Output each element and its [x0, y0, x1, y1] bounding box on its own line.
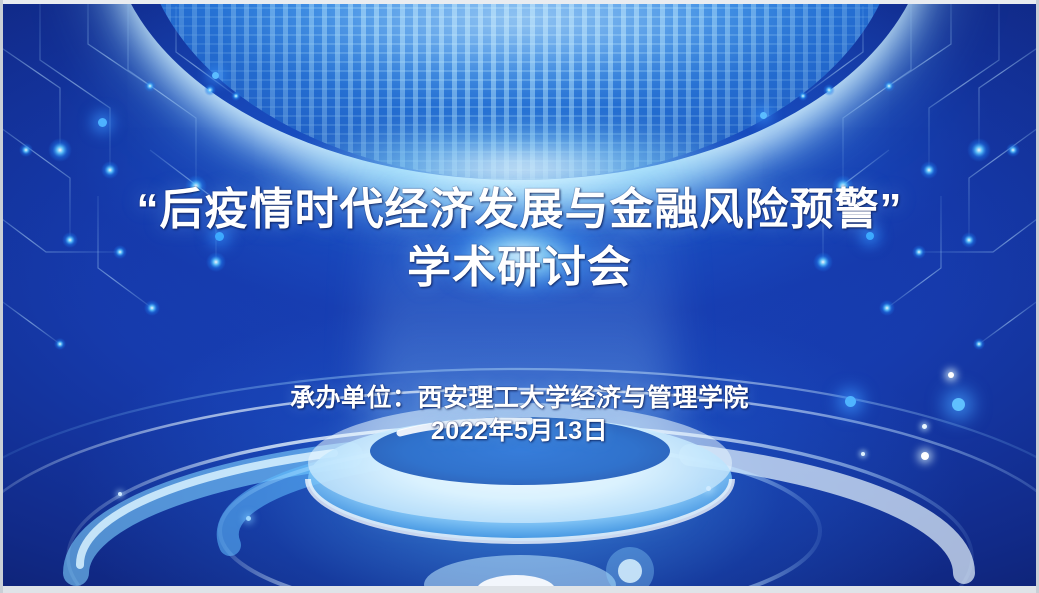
- slide-subtitle: 承办单位：西安理工大学经济与管理学院 2022年5月13日: [0, 382, 1039, 448]
- slide-title: “后疫情时代经济发展与金融风险预警” 学术研讨会: [0, 181, 1039, 297]
- title-line-1: “后疫情时代经济发展与金融风险预警”: [0, 181, 1039, 239]
- event-date-text: 2022年5月13日: [0, 415, 1039, 448]
- presentation-slide: “后疫情时代经济发展与金融风险预警” 学术研讨会 承办单位：西安理工大学经济与管…: [0, 0, 1039, 593]
- title-line-2: 学术研讨会: [0, 239, 1039, 297]
- organizer-text: 承办单位：西安理工大学经济与管理学院: [0, 382, 1039, 415]
